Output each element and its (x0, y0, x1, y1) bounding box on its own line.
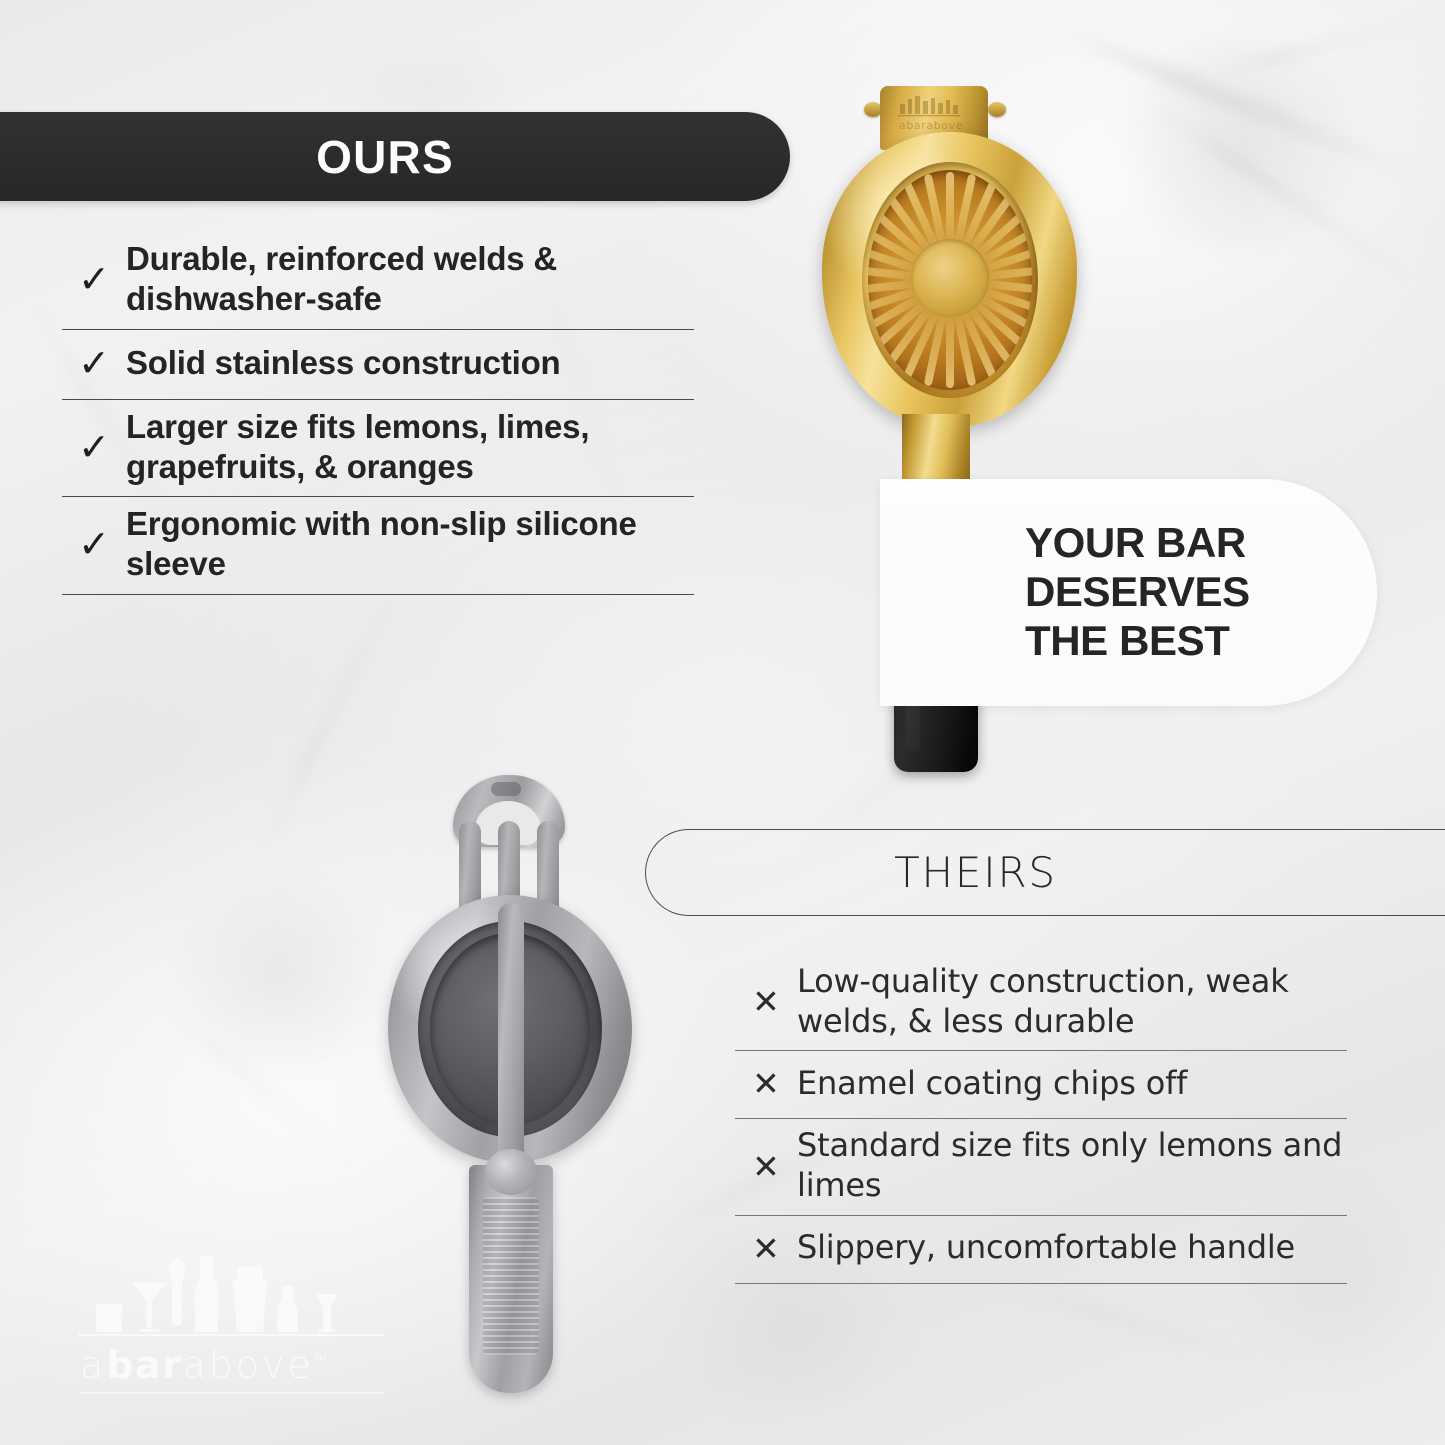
logo-word-a: a (80, 1343, 106, 1387)
squeezer-gold-body (822, 132, 1077, 427)
hinge-pin (988, 102, 1006, 117)
squeezer-handle (469, 1165, 553, 1393)
embossed-brand-logo-icon: abarabove (894, 95, 972, 137)
logo-wordmark: abarabove™ (78, 1336, 384, 1392)
list-item-label: Larger size fits lemons, limes, grapefru… (126, 407, 694, 488)
list-item: ✓ Ergonomic with non-slip silicone sleev… (62, 497, 694, 595)
list-item: ✕ Enamel coating chips off (735, 1051, 1347, 1119)
tab-stamp-icon (491, 782, 521, 796)
list-item-label: Durable, reinforced welds & dishwasher-s… (126, 239, 694, 320)
squeezer-center-bar (498, 903, 524, 1181)
x-icon: ✕ (735, 1232, 797, 1265)
logo-divider-bottom (80, 1392, 384, 1394)
logo-word-above: above (182, 1343, 314, 1387)
x-icon: ✕ (735, 1067, 797, 1100)
check-icon: ✓ (62, 260, 126, 298)
callout-line-2: DESERVES (1025, 568, 1250, 617)
x-icon: ✕ (735, 985, 797, 1018)
callout-text-block: YOUR BAR DESERVES THE BEST (880, 519, 1250, 665)
logo-word-bar: bar (106, 1343, 182, 1387)
list-item: ✓ Durable, reinforced welds & dishwasher… (62, 232, 694, 330)
barware-silhouette-icon (78, 1256, 384, 1334)
x-icon: ✕ (735, 1150, 797, 1183)
ours-header-banner: OURS (0, 112, 790, 201)
list-item: ✕ Standard size fits only lemons and lim… (735, 1119, 1347, 1215)
list-item-label: Solid stainless construction (126, 343, 561, 383)
list-item: ✕ Slippery, uncomfortable handle (735, 1216, 1347, 1284)
check-icon: ✓ (62, 525, 126, 563)
ours-feature-list: ✓ Durable, reinforced welds & dishwasher… (62, 232, 694, 595)
brand-logo: abarabove™ (78, 1256, 384, 1394)
squeezer-bowl-rim (862, 162, 1038, 398)
list-item-label: Slippery, uncomfortable handle (797, 1228, 1295, 1268)
list-item: ✕ Low-quality construction, weak welds, … (735, 955, 1347, 1051)
list-item-label: Ergonomic with non-slip silicone sleeve (126, 504, 694, 585)
squeezer-bowl-center (911, 239, 989, 317)
check-icon: ✓ (62, 344, 126, 382)
theirs-drawback-list: ✕ Low-quality construction, weak welds, … (735, 955, 1347, 1284)
list-item: ✓ Larger size fits lemons, limes, grapef… (62, 400, 694, 498)
squeezer-bowl (868, 170, 1032, 390)
marble-blotch (300, 60, 560, 120)
value-proposition-callout: YOUR BAR DESERVES THE BEST (880, 479, 1377, 706)
handle-grooves (483, 1197, 539, 1355)
svg-text:abarabove: abarabove (899, 119, 963, 132)
infographic-canvas: OURS ✓ Durable, reinforced welds & dishw… (0, 0, 1445, 1445)
list-item: ✓ Solid stainless construction (62, 330, 694, 400)
theirs-header-banner: THEIRS (645, 829, 1445, 916)
theirs-header-label: THEIRS (894, 848, 1227, 897)
list-item-label: Standard size fits only lemons and limes (797, 1126, 1347, 1205)
check-icon: ✓ (62, 428, 126, 466)
gray-citrus-squeezer-image (385, 775, 635, 1395)
list-item-label: Low-quality construction, weak welds, & … (797, 962, 1347, 1041)
ours-header-label: OURS (276, 130, 454, 184)
callout-line-1: YOUR BAR (1025, 519, 1250, 568)
squeezer-pivot-knob (485, 1149, 537, 1195)
callout-line-3: THE BEST (1025, 617, 1250, 666)
trademark-icon: ™ (314, 1353, 327, 1368)
list-item-label: Enamel coating chips off (797, 1064, 1187, 1104)
marble-blotch (150, 880, 410, 1070)
